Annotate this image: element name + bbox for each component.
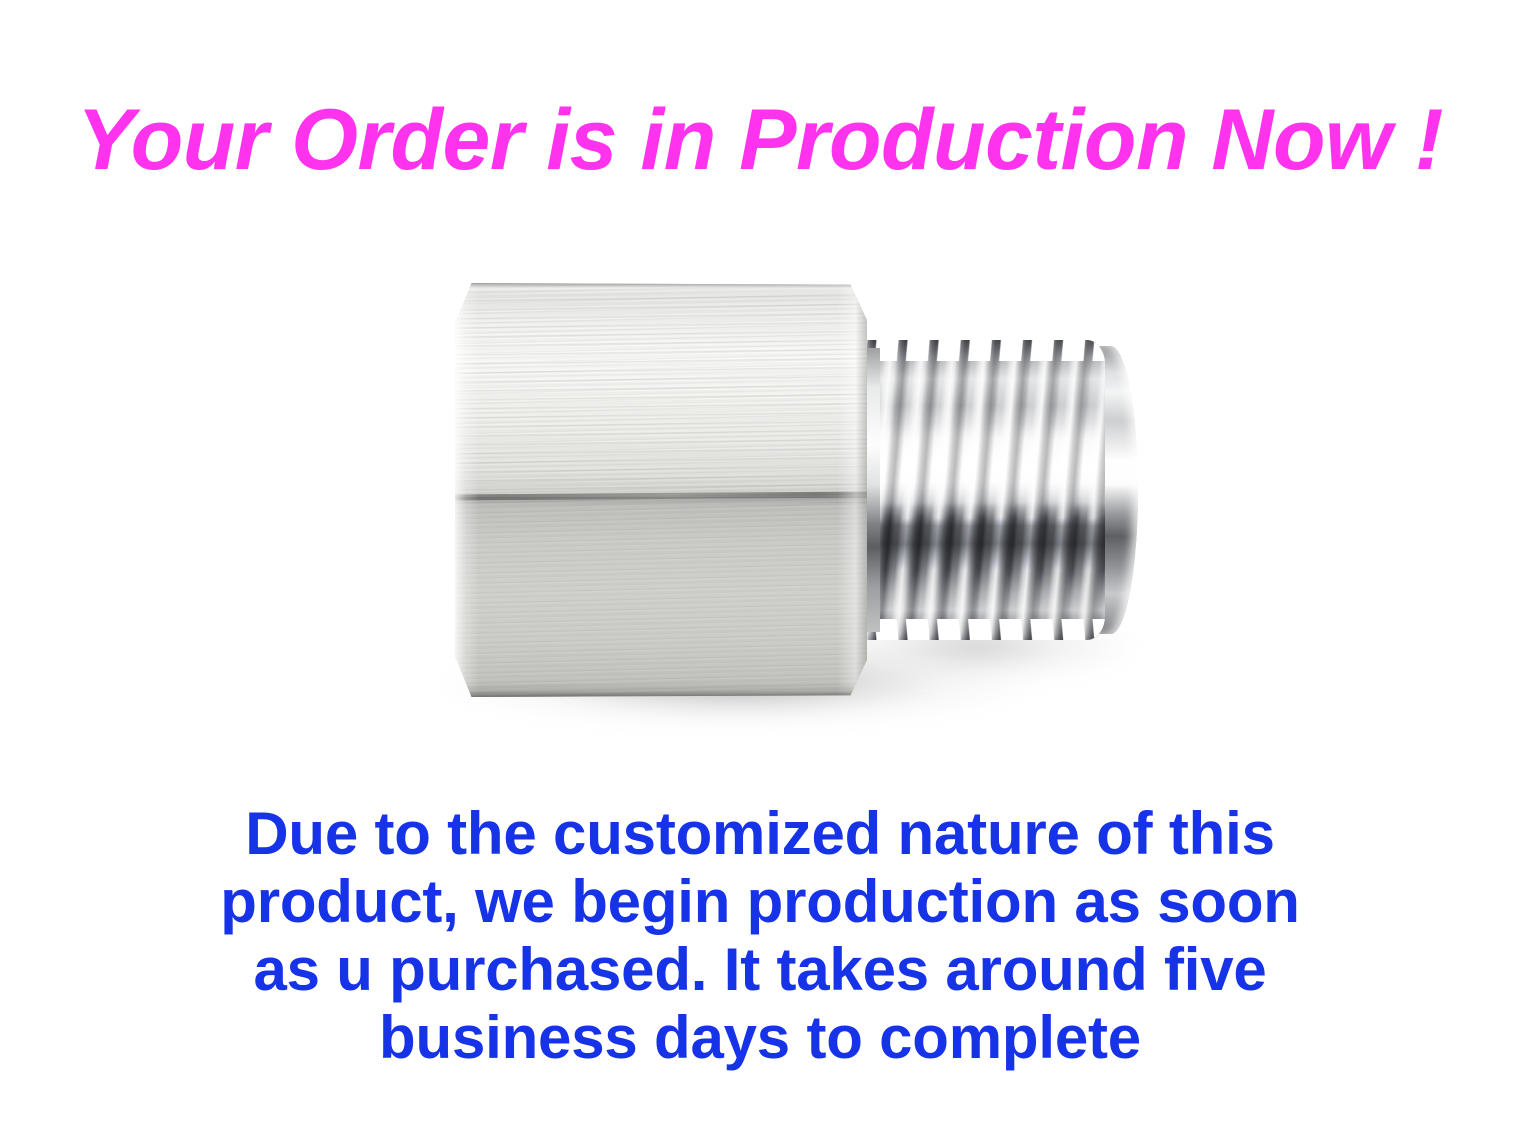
hex-brush-texture-fine	[455, 283, 867, 503]
notice-line-4: business days to complete	[0, 1004, 1520, 1072]
thread-ridges-shadow	[860, 340, 1105, 640]
thread-cylinder	[860, 340, 1105, 640]
product-image	[300, 225, 1250, 795]
notice-line-3: as u purchased. It takes around five	[0, 936, 1520, 1004]
production-notice: Due to the customized nature of this pro…	[0, 800, 1520, 1072]
hex-nut-body	[455, 283, 867, 697]
hex-chamfer-right	[837, 283, 867, 697]
thread-crest-top	[860, 340, 1105, 361]
hex-bevel-bottom	[455, 683, 867, 697]
hex-chamfer-left	[455, 283, 479, 697]
promo-banner: Your Order is in Production Now !	[0, 0, 1520, 1140]
notice-line-1: Due to the customized nature of this	[0, 800, 1520, 868]
page-title: Your Order is in Production Now !	[0, 92, 1520, 188]
notice-line-2: product, we begin production as soon	[0, 868, 1520, 936]
male-threaded-end	[860, 340, 1138, 640]
hex-bevel-top	[455, 283, 867, 295]
thread-crest-bottom	[860, 619, 1105, 640]
